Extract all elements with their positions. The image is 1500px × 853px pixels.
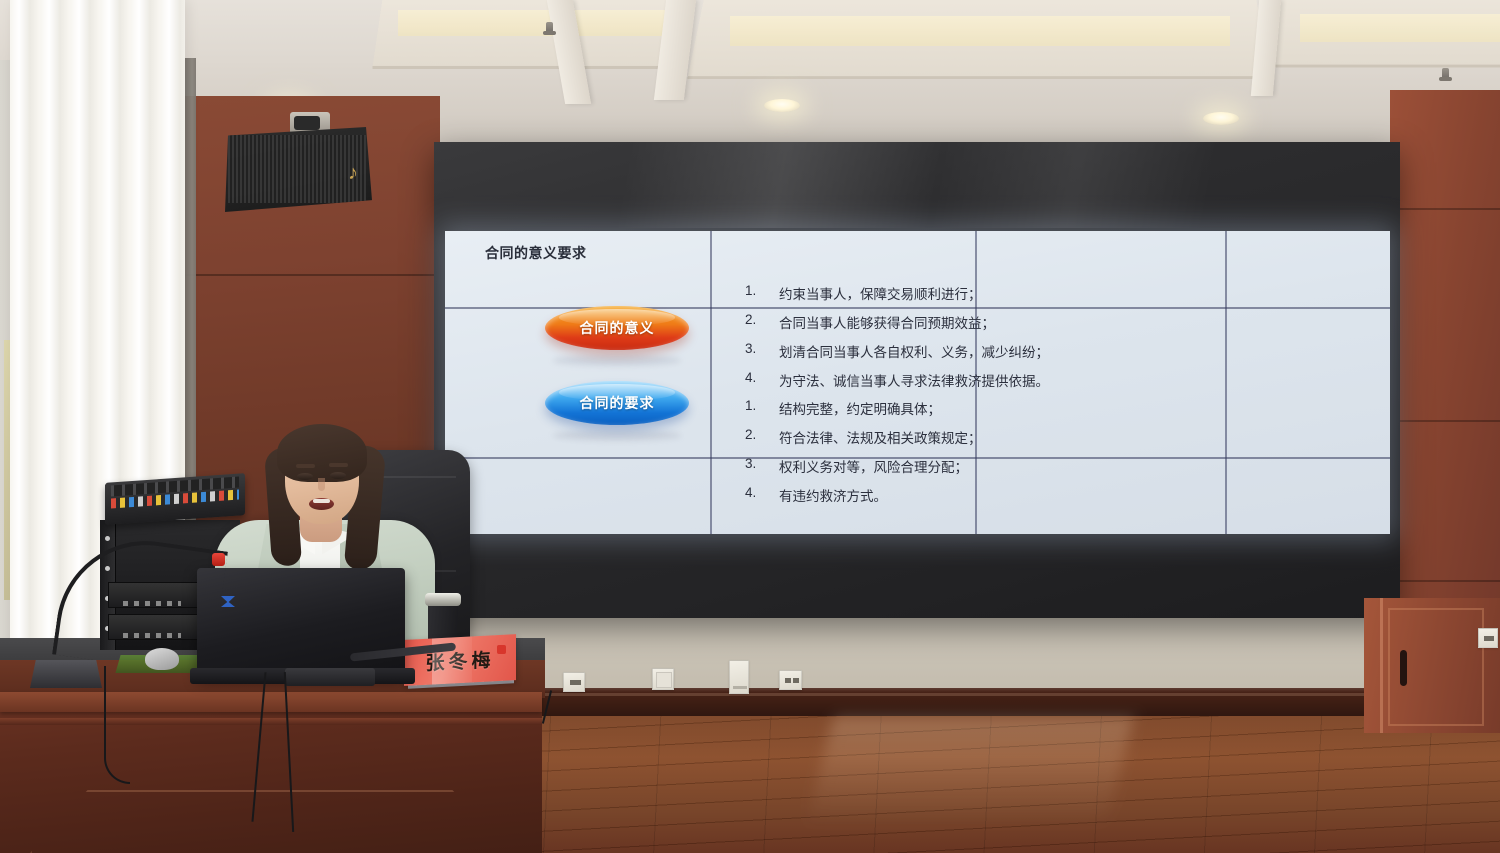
laptop-logo — [221, 596, 235, 607]
pill-contract-requirement[interactable]: 合同的要求 — [545, 381, 689, 425]
speaker-grille — [228, 135, 366, 203]
cabinet-edge — [1380, 598, 1383, 733]
baseboard-highlight — [440, 693, 1400, 696]
microphone-base-secondary[interactable] — [285, 668, 375, 686]
pill-contract-meaning[interactable]: 合同的意义 — [545, 306, 689, 350]
podium-raised-panel — [30, 790, 510, 853]
list-text: 合同当事人能够获得合同预期效益； — [779, 312, 995, 332]
list-number: 4. — [745, 485, 779, 505]
list-text: 为守法、诚信当事人寻求法律救济提供依据。 — [779, 370, 1049, 390]
ceiling-downlight — [764, 99, 800, 112]
conference-room-scene: ♪ 合同的意义要求 合同的意义 合同的要求 1. 约束当事人，保障交易顺利进行； — [0, 0, 1500, 853]
podium-top-edge — [0, 692, 542, 712]
pill-shadow — [553, 430, 681, 441]
data-jack-outlet[interactable] — [779, 670, 802, 690]
list-number: 1. — [745, 398, 779, 418]
list-item: 4. 为守法、诚信当事人寻求法律救济提供依据。 — [745, 370, 1049, 390]
video-wall-glare — [434, 142, 1400, 228]
speaker-brand-logo: ♪ — [348, 163, 358, 185]
sprinkler-head — [1442, 68, 1449, 80]
requirement-list: 1. 结构完整，约定明确具体； 2. 符合法律、法规及相关政策规定； 3. 权利… — [745, 398, 982, 514]
list-number: 1. — [745, 283, 779, 303]
video-wall-screen[interactable]: 合同的意义要求 合同的意义 合同的要求 1. 约束当事人，保障交易顺利进行； 2… — [445, 231, 1390, 534]
pill-label: 合同的要求 — [580, 393, 655, 413]
list-item: 4. 有违约救济方式。 — [745, 485, 982, 505]
list-number: 3. — [745, 341, 779, 361]
power-outlet-right[interactable] — [1478, 628, 1498, 648]
sprinkler-head — [546, 22, 553, 34]
speaker-bracket-arm — [294, 116, 320, 130]
eye-right — [330, 472, 346, 479]
microphone-tip-indicator — [212, 553, 225, 566]
eyebrow-right — [329, 463, 348, 467]
list-item: 1. 约束当事人，保障交易顺利进行； — [745, 283, 1049, 303]
microphone-tip-secondary — [497, 645, 506, 654]
light-switch[interactable] — [652, 668, 674, 690]
list-number: 3. — [745, 456, 779, 476]
pill-shadow — [553, 355, 681, 366]
list-number: 4. — [745, 370, 779, 390]
panel-seam-vertical — [710, 231, 712, 534]
meaning-list: 1. 约束当事人，保障交易顺利进行； 2. 合同当事人能够获得合同预期效益； 3… — [745, 283, 1049, 399]
pill-label: 合同的意义 — [580, 318, 655, 338]
list-text: 权利义务对等，风险合理分配； — [779, 456, 968, 476]
list-text: 划清合同当事人各自权利、义务，减少纠纷； — [779, 341, 1049, 361]
slide-title: 合同的意义要求 — [485, 243, 587, 263]
name-plate: 张冬梅 — [404, 634, 516, 686]
panel-seam-vertical — [1225, 231, 1227, 534]
eyebrow-left — [296, 464, 315, 468]
list-text: 约束当事人，保障交易顺利进行； — [779, 283, 982, 303]
microphone-base[interactable] — [30, 660, 102, 688]
teeth — [313, 499, 330, 503]
list-number: 2. — [745, 312, 779, 332]
eye-left — [297, 473, 313, 480]
presenter-laptop[interactable] — [197, 568, 405, 676]
ceiling-downlight — [1203, 112, 1239, 125]
cabinet-handle[interactable] — [1400, 650, 1407, 686]
list-number: 2. — [745, 427, 779, 447]
list-text: 有违约救济方式。 — [779, 485, 887, 505]
list-item: 3. 划清合同当事人各自权利、义务，减少纠纷； — [745, 341, 1049, 361]
podium-rail-molding — [0, 718, 542, 725]
list-text: 结构完整，约定明确具体； — [779, 398, 941, 418]
list-item: 1. 结构完整，约定明确具体； — [745, 398, 982, 418]
list-text: 符合法律、法规及相关政策规定； — [779, 427, 982, 447]
list-item: 2. 符合法律、法规及相关政策规定； — [745, 427, 982, 447]
desk-cable — [104, 666, 130, 784]
hair-top — [277, 424, 367, 482]
wall-speaker: ♪ — [222, 127, 372, 212]
list-item: 3. 权利义务对等，风险合理分配； — [745, 456, 982, 476]
list-item: 2. 合同当事人能够获得合同预期效益； — [745, 312, 1049, 332]
thermostat-panel[interactable] — [729, 660, 749, 694]
flask-cap[interactable] — [425, 593, 461, 606]
floor-light-reflection — [806, 716, 1133, 826]
nose — [318, 478, 325, 491]
power-outlet[interactable] — [563, 672, 585, 692]
